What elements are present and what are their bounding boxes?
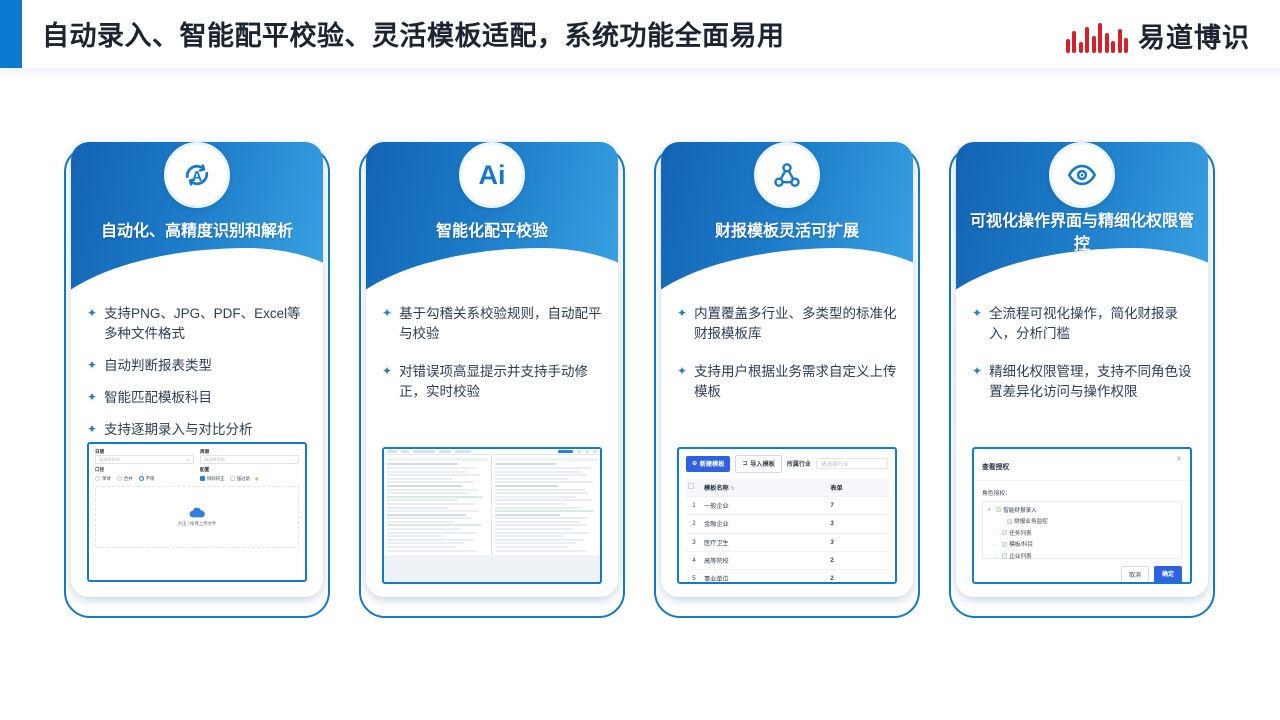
chevron-down-icon[interactable]: ▾ xyxy=(988,507,993,513)
import-template-button[interactable]: ⊐ 导入模板 xyxy=(735,455,781,473)
chevron-right-icon[interactable]: › xyxy=(994,530,999,535)
template-name-cell: 高等院校 xyxy=(702,551,828,569)
bullet-text: 全流程可视化操作，简化财报录入，分析门槛 xyxy=(989,304,1194,344)
bullet-text: 智能匹配模板科目 xyxy=(104,388,212,408)
tree-node-label: 智能财报录入 xyxy=(1003,506,1037,514)
new-template-button[interactable]: ⊕ 新建模板 xyxy=(686,456,730,472)
radio-hebing[interactable]: 合并 xyxy=(117,476,133,482)
screenshot-compare-view[interactable] xyxy=(382,447,602,584)
feature-card-3[interactable]: 财报模板灵活可扩展 ✦ 内置覆盖多行业、多类型的标准化财报模板库 ✦ 支持用户根… xyxy=(654,146,920,618)
logo-bars-icon xyxy=(1066,19,1129,53)
card-bullets-4: ✦ 全流程可视化操作，简化财报录入，分析门槛 ✦ 精细化权限管理，支持不同角色设… xyxy=(972,304,1194,414)
bullet-text: 精细化权限管理，支持不同角色设置差异化访问与操作权限 xyxy=(989,362,1194,402)
header-divider xyxy=(0,68,1280,78)
calendar-icon: ▤ xyxy=(186,457,190,462)
forms-count-cell[interactable]: 7 xyxy=(828,496,888,514)
help-icon[interactable]: ◉ xyxy=(255,476,259,482)
svg-text:A: A xyxy=(192,169,203,185)
page-title: 自动录入、智能配平校验、灵活模板适配，系统功能全面易用 xyxy=(42,14,785,53)
date-placeholder: 请选择年份 xyxy=(99,457,120,463)
card-bullets-1: ✦ 支持PNG、JPG、PDF、Excel等多种文件格式 ✦ 自动判断报表类型 … xyxy=(87,304,309,452)
bullet-text: 自动判断报表类型 xyxy=(104,356,212,376)
card-body: 可视化操作界面与精细化权限管控 ✦ 全流程可视化操作，简化财报录入，分析门槛 ✦… xyxy=(956,142,1208,597)
eye-icon xyxy=(1049,142,1115,208)
confirm-button[interactable]: 确定 xyxy=(1154,566,1182,583)
compare-source-document[interactable] xyxy=(384,455,492,555)
dialog-actions: 取消 确定 xyxy=(982,566,1182,583)
bullet-item: ✦ 支持PNG、JPG、PDF、Excel等多种文件格式 xyxy=(87,304,309,344)
forms-header: 表单 xyxy=(828,479,888,497)
dialog-title: 查看授权 xyxy=(982,464,1009,471)
bullet-diamond-icon: ✦ xyxy=(677,304,687,344)
period-placeholder: 请选择周期 xyxy=(204,457,225,463)
import-template-label: 导入模板 xyxy=(750,459,775,468)
bullet-diamond-icon: ✦ xyxy=(677,362,687,402)
industry-placeholder: 请选择行业 xyxy=(821,460,849,468)
chevron-down-icon: ⌄ xyxy=(291,457,295,462)
checkbox-strong-filter[interactable]: 强过滤 xyxy=(230,476,250,482)
bullet-diamond-icon: ✦ xyxy=(87,356,97,376)
screenshot-template-list[interactable]: ⊕ 新建模板 ⊐ 导入模板 所属行业 请选择行业 xyxy=(677,447,897,584)
chevron-right-icon[interactable]: › xyxy=(994,542,999,547)
bullet-item: ✦ 自动判断报表类型 xyxy=(87,356,309,376)
template-name-cell: 一般企业 xyxy=(702,496,828,514)
plus-circle-icon: ⊕ xyxy=(692,460,697,467)
close-icon[interactable]: ✕ xyxy=(1176,456,1182,463)
bullet-text: 支持PNG、JPG、PDF、Excel等多种文件格式 xyxy=(104,304,309,344)
bullet-item: ✦ 全流程可视化操作，简化财报录入，分析门槛 xyxy=(972,304,1194,344)
card-body: 智能化配平校验 ✦ 基于勾稽关系校验规则，自动配平与校验 ✦ 对错误项高显提示并… xyxy=(366,142,618,597)
brand-name: 易道博识 xyxy=(1138,16,1250,55)
card-title-3: 财报模板灵活可扩展 xyxy=(675,220,899,243)
template-toolbar: ⊕ 新建模板 ⊐ 导入模板 所属行业 请选择行业 xyxy=(686,455,888,473)
card-title-4: 可视化操作界面与精细化权限管控 xyxy=(970,210,1194,256)
share-nodes-icon xyxy=(754,142,820,208)
feature-card-2[interactable]: 智能化配平校验 ✦ 基于勾稽关系校验规则，自动配平与校验 ✦ 对错误项高显提示并… xyxy=(359,146,625,618)
table-row[interactable]: 1 一般企业 7 xyxy=(686,496,888,514)
industry-select[interactable]: 请选择行业 xyxy=(816,458,888,469)
compare-extracted-table[interactable] xyxy=(492,455,600,555)
bullet-item: ✦ 精细化权限管理，支持不同角色设置差异化访问与操作权限 xyxy=(972,362,1194,402)
checkbox-icon[interactable] xyxy=(1002,553,1007,558)
bullet-item: ✦ 基于勾稽关系校验规则，自动配平与校验 xyxy=(382,304,604,344)
bullet-diamond-icon: ✦ xyxy=(87,420,97,440)
checkbox-tilt-correct[interactable]: 倾斜矫正 xyxy=(200,476,225,482)
feature-card-4[interactable]: 可视化操作界面与精细化权限管控 ✦ 全流程可视化操作，简化财报录入，分析门槛 ✦… xyxy=(949,146,1215,618)
checkbox-icon[interactable] xyxy=(1002,530,1007,535)
forms-count-cell[interactable]: 2 xyxy=(828,570,888,584)
card-bullets-2: ✦ 基于勾稽关系校验规则，自动配平与校验 ✦ 对错误项高显提示并支持手动修正，实… xyxy=(382,304,604,414)
bullet-item: ✦ 对错误项高显提示并支持手动修正，实时校验 xyxy=(382,362,604,402)
bullet-text: 内置覆盖多行业、多类型的标准化财报模板库 xyxy=(694,304,899,344)
industry-label: 所属行业 xyxy=(787,459,811,468)
card-title-2: 智能化配平校验 xyxy=(380,220,604,243)
tree-node[interactable]: 财报业务监控 xyxy=(988,517,1176,525)
template-name-cell: 事业单位 xyxy=(702,570,828,584)
checkbox-icon[interactable] xyxy=(1007,519,1012,524)
tree-node-label: 财报业务监控 xyxy=(1014,517,1048,525)
tree-node-label: 企业列表 xyxy=(1009,552,1031,560)
bullet-diamond-icon: ✦ xyxy=(972,362,982,402)
template-name-cell: 医疗卫生 xyxy=(702,533,828,551)
bullet-item: ✦ 智能匹配模板科目 xyxy=(87,388,309,408)
checkbox-icon[interactable] xyxy=(688,483,694,489)
select-all-header[interactable] xyxy=(686,479,702,497)
dropzone-text: 点击 / 拖拽上传文件 xyxy=(178,521,217,527)
template-name-header[interactable]: 模板名称 ⇅ xyxy=(702,479,828,497)
bullet-diamond-icon: ✦ xyxy=(382,362,392,402)
forms-count-cell[interactable]: 3 xyxy=(828,515,888,533)
chevron-right-icon[interactable]: › xyxy=(994,554,999,559)
tree-node[interactable]: › 模板/科目 xyxy=(988,540,1176,548)
cloud-upload-icon xyxy=(189,506,205,518)
bullet-diamond-icon: ✦ xyxy=(87,304,97,344)
new-template-label: 新建模板 xyxy=(700,459,725,468)
permission-tree[interactable]: ▾ 智能财报录入 财报业务监控 › 任务列表 xyxy=(982,501,1182,559)
bullet-text: 基于勾稽关系校验规则，自动配平与校验 xyxy=(399,304,604,344)
upload-dropzone[interactable]: 点击 / 拖拽上传文件 xyxy=(95,486,299,548)
tree-node[interactable]: › 企业列表 xyxy=(988,552,1176,560)
header-accent-bar xyxy=(0,0,22,68)
bullet-diamond-icon: ✦ xyxy=(382,304,392,344)
bullet-text: 对错误项高显提示并支持手动修正，实时校验 xyxy=(399,362,604,402)
tree-node[interactable]: ▾ 智能财报录入 xyxy=(988,506,1176,514)
auto-rotate-a-icon: A xyxy=(164,142,230,208)
table-row[interactable]: 3 医疗卫生 3 xyxy=(686,533,888,551)
screenshot-upload-form[interactable]: 日期 请选择年份 ▤ 周期 请选择周期 ⌄ xyxy=(87,442,307,582)
ai-icon: Ai xyxy=(459,142,525,208)
cancel-button[interactable]: 取消 xyxy=(1121,566,1149,583)
table-row[interactable]: 2 金融企业 3 xyxy=(686,515,888,533)
tree-node[interactable]: › 任务列表 xyxy=(988,529,1176,537)
page-header: 自动录入、智能配平校验、灵活模板适配，系统功能全面易用 易道博识 xyxy=(0,0,1280,68)
checkbox-icon[interactable] xyxy=(996,507,1001,512)
forms-count-cell[interactable]: 3 xyxy=(828,533,888,551)
config-label: 配置 xyxy=(200,467,299,473)
table-header-row: 模板名称 ⇅ 表单 xyxy=(686,479,888,497)
slide-root: 自动录入、智能配平校验、灵活模板适配，系统功能全面易用 易道博识 自动化、高精度… xyxy=(0,0,1280,720)
compare-body xyxy=(384,455,600,555)
table-row[interactable]: 5 事业单位 2 xyxy=(686,570,888,584)
screenshot-auth-dialog[interactable]: ✕ 查看授权 角色授权： ▾ 智能财报录入 xyxy=(972,447,1192,584)
card-body: 财报模板灵活可扩展 ✦ 内置覆盖多行业、多类型的标准化财报模板库 ✦ 支持用户根… xyxy=(661,142,913,597)
period-select[interactable]: 请选择周期 ⌄ xyxy=(200,455,299,464)
role-auth-label: 角色授权： xyxy=(982,488,1182,497)
bullet-text: 支持逐期录入与对比分析 xyxy=(104,420,253,440)
radio-buxian[interactable]: 不限 xyxy=(139,476,155,482)
bullet-text: 支持用户根据业务需求自定义上传模板 xyxy=(694,362,899,402)
sort-icon[interactable]: ⇅ xyxy=(730,486,734,492)
template-table: 模板名称 ⇅ 表单 1 一般企业 7 2 金融企业 xyxy=(686,479,888,584)
checkbox-icon[interactable] xyxy=(1002,542,1007,547)
bullet-diamond-icon: ✦ xyxy=(972,304,982,344)
bullet-item: ✦ 内置覆盖多行业、多类型的标准化财报模板库 xyxy=(677,304,899,344)
tree-node-label: 模板/科目 xyxy=(1009,540,1033,548)
dialog-header: ✕ 查看授权 xyxy=(982,456,1182,474)
card-title-1: 自动化、高精度识别和解析 xyxy=(85,220,309,243)
feature-card-1[interactable]: 自动化、高精度识别和解析 ✦ 支持PNG、JPG、PDF、Excel等多种文件格… xyxy=(64,146,330,618)
date-input[interactable]: 请选择年份 ▤ xyxy=(95,455,194,464)
template-name-cell: 金融企业 xyxy=(702,515,828,533)
feature-cards: 自动化、高精度识别和解析 ✦ 支持PNG、JPG、PDF、Excel等多种文件格… xyxy=(0,130,1280,610)
card-bullets-3: ✦ 内置覆盖多行业、多类型的标准化财报模板库 ✦ 支持用户根据业务需求自定义上传… xyxy=(677,304,899,414)
table-row[interactable]: 4 高等院校 2 xyxy=(686,551,888,569)
bullet-item: ✦ 支持逐期录入与对比分析 xyxy=(87,420,309,440)
brand-logo: 易道博识 xyxy=(1066,16,1251,55)
import-icon: ⊐ xyxy=(742,460,747,467)
dialog-divider xyxy=(974,480,1190,481)
card-body: 自动化、高精度识别和解析 ✦ 支持PNG、JPG、PDF、Excel等多种文件格… xyxy=(71,142,323,597)
bullet-diamond-icon: ✦ xyxy=(87,388,97,408)
forms-count-cell[interactable]: 2 xyxy=(828,551,888,569)
caliber-label: 口径 xyxy=(95,467,194,473)
radio-danti[interactable]: 单体 xyxy=(95,476,111,482)
bullet-item: ✦ 支持用户根据业务需求自定义上传模板 xyxy=(677,362,899,402)
compare-primary-button[interactable] xyxy=(558,450,573,454)
tree-node-label: 任务列表 xyxy=(1009,529,1031,537)
